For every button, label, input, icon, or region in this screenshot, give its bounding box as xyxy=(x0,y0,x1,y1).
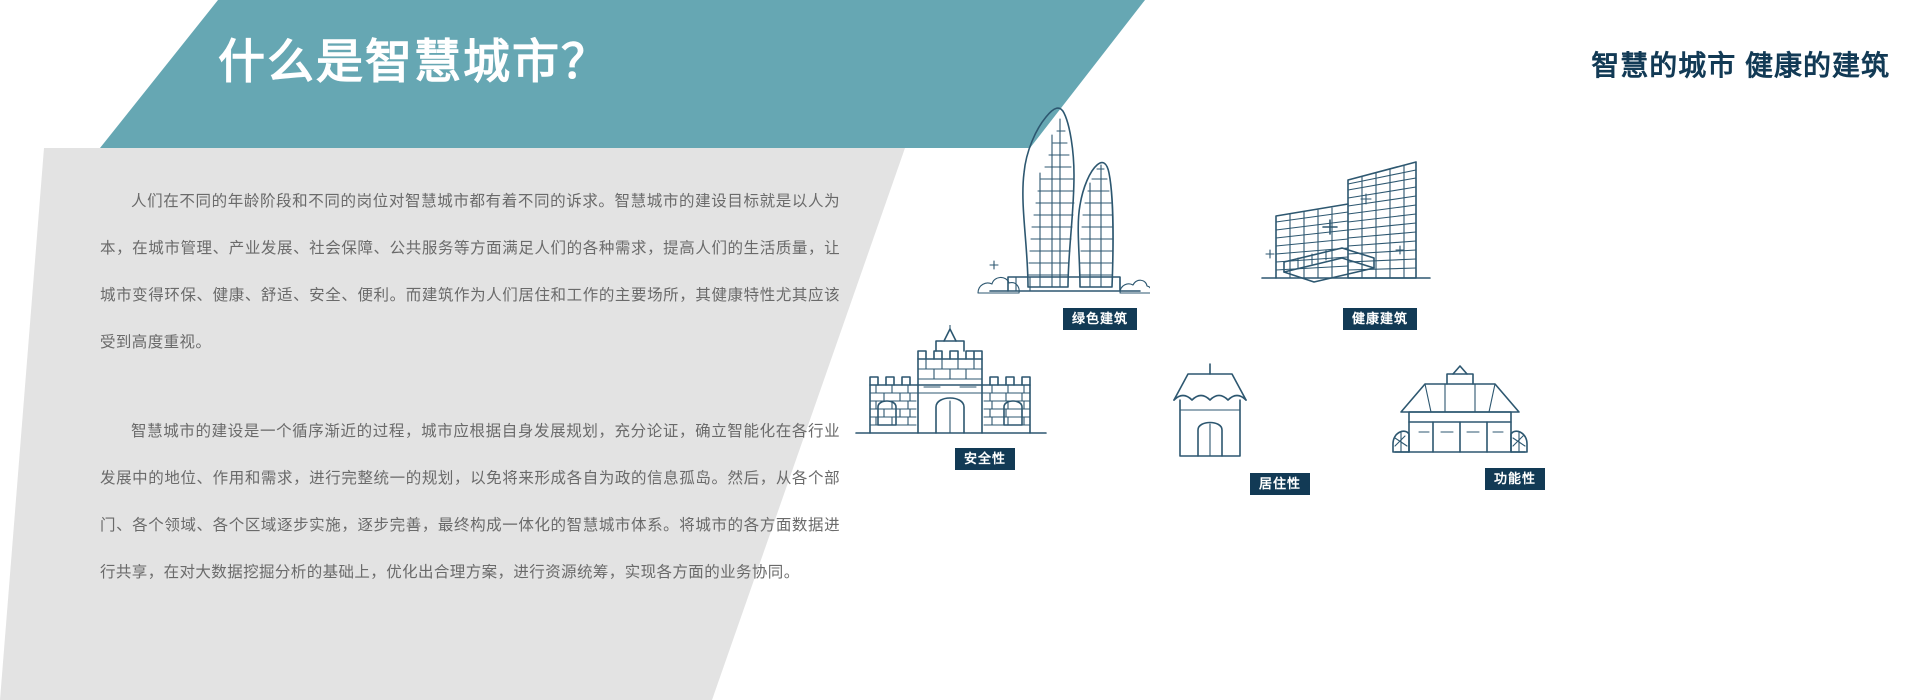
badge-livability: 居住性 xyxy=(1250,473,1310,495)
page-title: 什么是智慧城市？ xyxy=(218,34,610,90)
illustration-label-wrap: 安全性 xyxy=(840,440,1130,470)
illustration-item-functionality: 功能性 xyxy=(1385,360,1645,490)
illustration-item-green-building: 绿色建筑 xyxy=(970,95,1230,330)
badge-health-building: 健康建筑 xyxy=(1343,308,1417,330)
house-icon xyxy=(1160,360,1400,465)
illustration-item-safety: 安全性 xyxy=(840,325,1130,470)
illustration-label-wrap: 居住性 xyxy=(1160,465,1400,495)
paragraph-1: 人们在不同的年龄阶段和不同的岗位对智慧城市都有着不同的诉求。智慧城市的建设目标就… xyxy=(100,178,840,366)
poster-page: 什么是智慧城市？ 智慧的城市 健康的建筑 人们在不同的年龄阶段和不同的岗位对智慧… xyxy=(0,0,1920,700)
paragraph-2: 智慧城市的建设是一个循序渐近的过程，城市应根据自身发展规划，充分论证，确立智能化… xyxy=(100,408,840,596)
illustration-item-health-building: 健康建筑 xyxy=(1240,150,1520,330)
castle-icon xyxy=(840,325,1130,440)
badge-safety: 安全性 xyxy=(955,448,1015,470)
pavilion-icon xyxy=(1385,360,1645,460)
illustration-label-wrap: 健康建筑 xyxy=(1240,300,1520,330)
illustration-label-wrap: 功能性 xyxy=(1385,460,1645,490)
illustration-item-livability: 居住性 xyxy=(1160,360,1400,495)
illustration-group: 绿色建筑 xyxy=(840,95,1920,655)
badge-functionality: 功能性 xyxy=(1485,468,1545,490)
hospital-building-icon xyxy=(1240,150,1520,300)
header-tagline: 智慧的城市 健康的建筑 xyxy=(1591,44,1890,84)
body-text: 人们在不同的年龄阶段和不同的岗位对智慧城市都有着不同的诉求。智慧城市的建设目标就… xyxy=(100,178,840,596)
twin-towers-icon xyxy=(970,95,1230,300)
